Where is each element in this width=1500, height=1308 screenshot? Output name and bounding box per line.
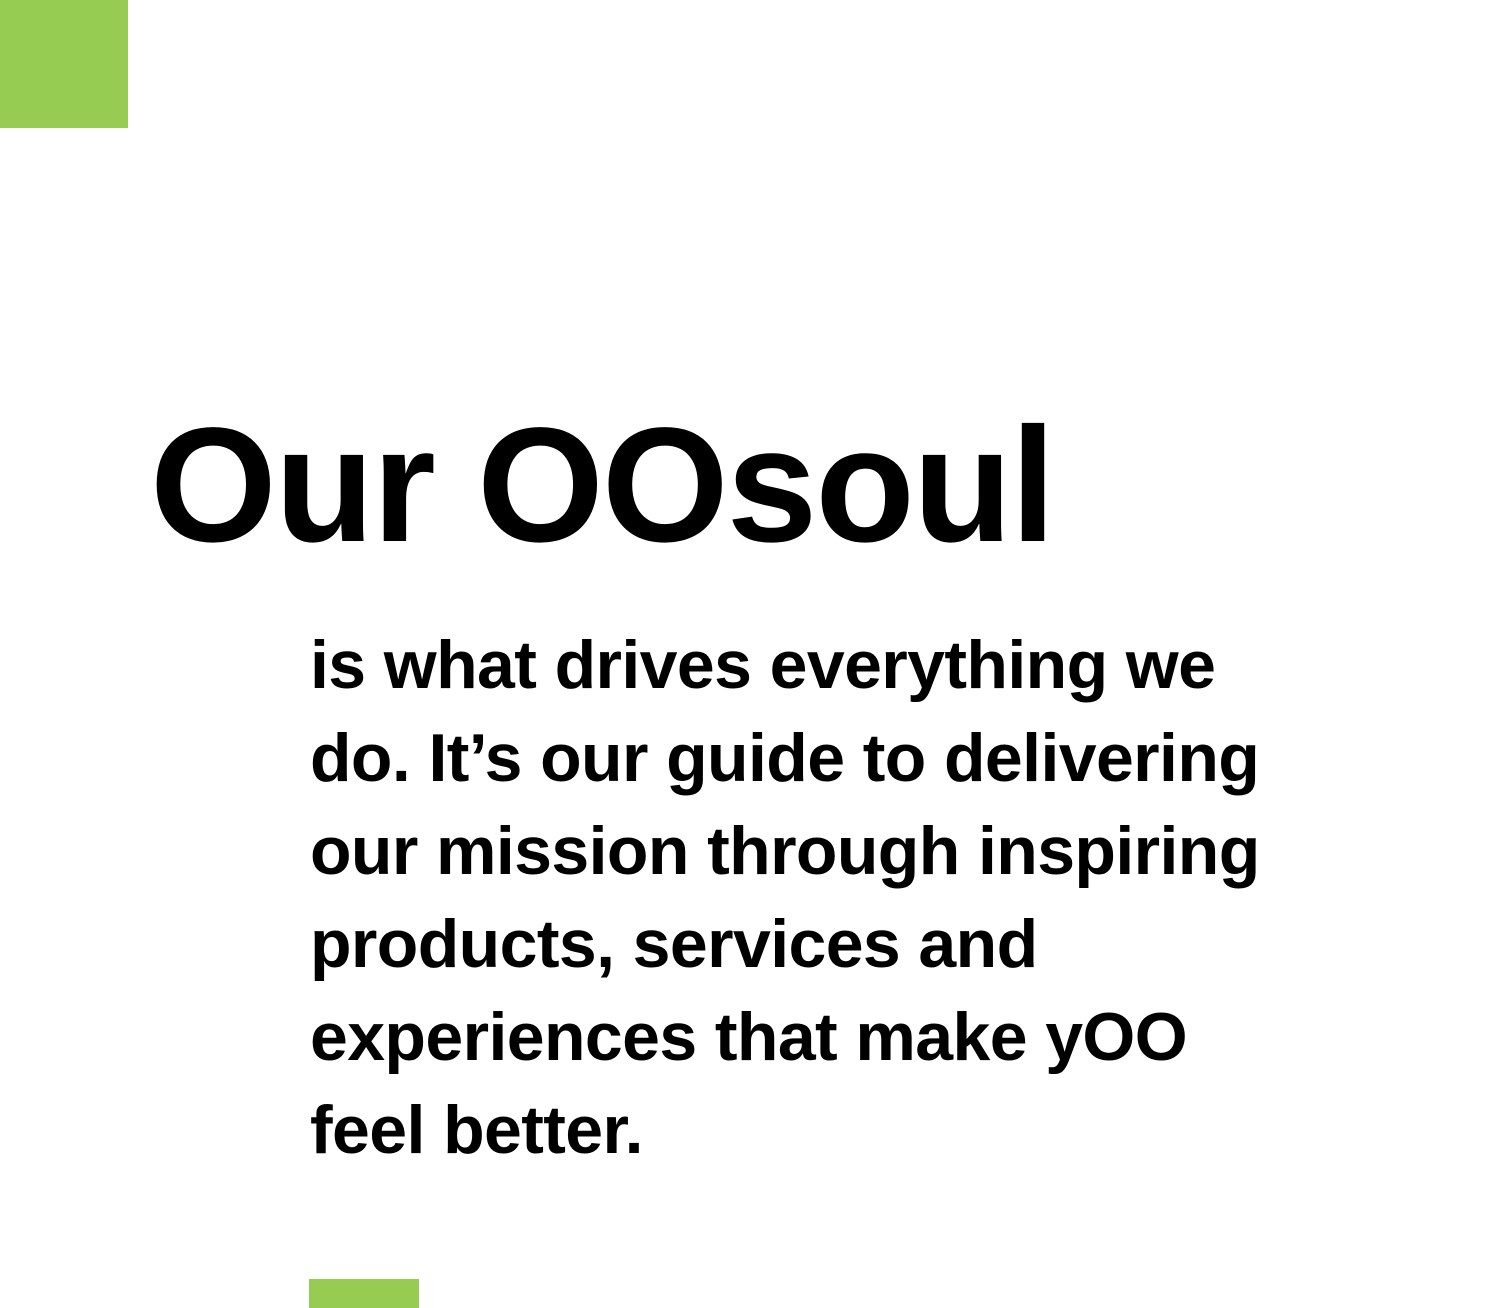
body-copy: is what drives everything we do. It’s ou…	[310, 619, 1500, 1177]
body-line: experiences that make yOO	[310, 991, 1500, 1084]
page-title: Our OOsoul	[150, 402, 1470, 568]
body-line: feel better.	[310, 1084, 1500, 1177]
body-line: products, services and	[310, 898, 1500, 991]
green-bar-decoration	[309, 1279, 419, 1308]
body-line: do. It’s our guide to delivering	[310, 712, 1500, 805]
slide-canvas: Our OOsoul is what drives everything we …	[0, 0, 1500, 1308]
body-line: our mission through inspiring	[310, 805, 1500, 898]
body-line: is what drives everything we	[310, 619, 1500, 712]
green-square-decoration	[0, 0, 128, 128]
